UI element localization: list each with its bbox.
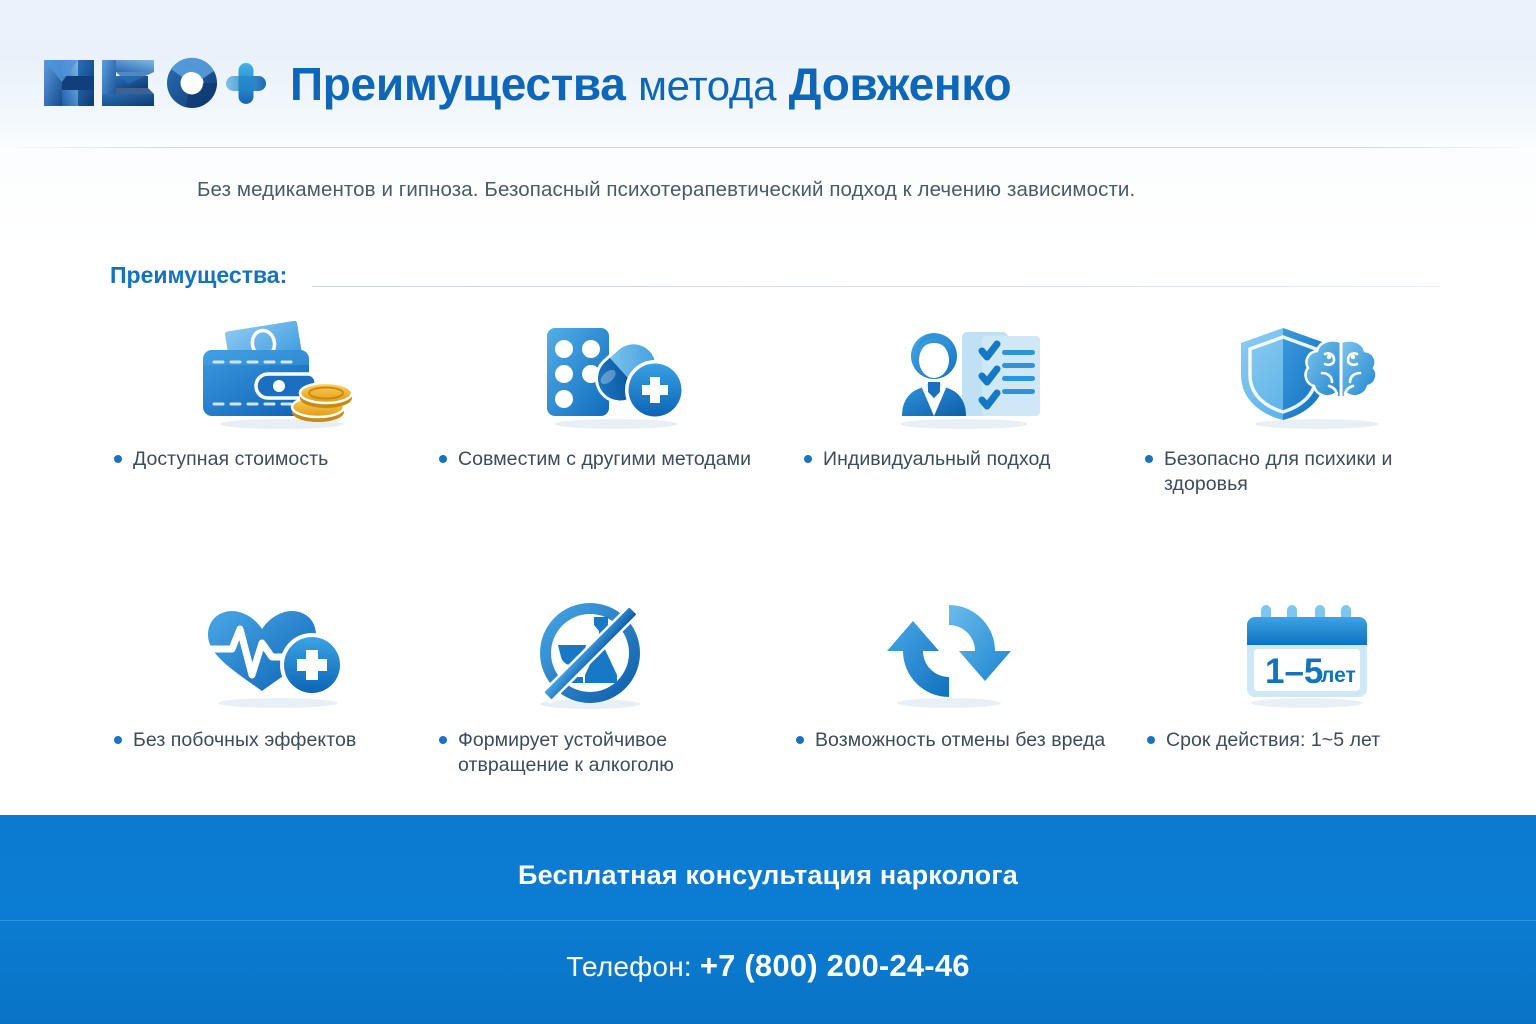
benefits-section-header: Преимущества:: [110, 262, 1440, 296]
benefit-text: Возможность отмены без вреда: [815, 728, 1105, 753]
benefit-item-compatible-methods[interactable]: Совместим с другими методами: [439, 312, 774, 497]
benefit-item-affordable-cost[interactable]: Доступная стоимость: [104, 312, 439, 497]
benefit-text: Совместим с другими методами: [458, 447, 751, 472]
bullet-dot: [439, 455, 447, 463]
doctor-checklist-icon: [774, 312, 1109, 430]
subtitle-band: Без медикаментов и гипноза. Безопасный п…: [0, 148, 1536, 240]
title-word-dovzhenko: Довженко: [789, 58, 1012, 110]
footer-phone-line[interactable]: Телефон: +7 (800) 200-24-46: [0, 948, 1536, 984]
benefit-label: Совместим с другими методами: [439, 447, 774, 472]
bullet-dot: [1145, 455, 1153, 463]
benefit-label: Формирует устойчивое отвращение к алкого…: [439, 728, 774, 778]
benefit-text: Без побочных эффектов: [133, 728, 356, 753]
neo-plus-logo: [36, 52, 268, 114]
wallet-coins-icon: [104, 312, 439, 430]
subtitle-text: Без медикаментов и гипноза. Безопасный п…: [197, 178, 1135, 202]
benefit-text: Доступная стоимость: [133, 447, 328, 472]
benefit-label: Доступная стоимость: [104, 447, 439, 472]
benefit-item-reversible[interactable]: Возможность отмены без вреда: [774, 593, 1109, 778]
phone-number[interactable]: +7 (800) 200-24-46: [700, 948, 970, 983]
benefit-text: Безопасно для психики и здоровья: [1164, 447, 1444, 497]
benefit-label: Безопасно для психики и здоровья: [1109, 447, 1444, 497]
no-alcohol-icon: [439, 593, 774, 711]
benefit-item-duration[interactable]: 1–5 лет Срок действия: 1~5 лет: [1109, 593, 1444, 778]
benefit-item-alcohol-aversion[interactable]: Формирует устойчивое отвращение к алкого…: [439, 593, 774, 778]
benefits-row-1: Доступная стоимость: [104, 312, 1444, 497]
benefit-item-no-side-effects[interactable]: Без побочных эффектов: [104, 593, 439, 778]
section-title: Преимущества:: [110, 262, 287, 289]
benefit-label: Возможность отмены без вреда: [774, 728, 1109, 753]
benefit-text: Формирует устойчивое отвращение к алкого…: [458, 728, 774, 778]
benefit-label: Срок действия: 1~5 лет: [1109, 728, 1444, 753]
benefits-row-2: Без побочных эффектов: [104, 593, 1444, 778]
section-divider: [312, 286, 1440, 287]
bullet-dot: [439, 736, 447, 744]
heart-pulse-plus-icon: [104, 593, 439, 711]
benefit-label: Без побочных эффектов: [104, 728, 439, 753]
bullet-dot: [804, 455, 812, 463]
benefit-item-individual-approach[interactable]: Индивидуальный подход: [774, 312, 1109, 497]
footer-cta-band: Бесплатная консультация нарколога Телефо…: [0, 815, 1536, 1024]
bullet-dot: [796, 736, 804, 744]
phone-label: Телефон:: [566, 951, 692, 982]
footer-divider: [0, 920, 1536, 921]
calendar-range-text: 1–5: [1265, 652, 1323, 691]
page-title: Преимущества метода Довженко: [290, 57, 1011, 111]
footer-cta-text: Бесплатная консультация нарколога: [0, 860, 1536, 891]
benefit-label: Индивидуальный подход: [774, 447, 1109, 472]
benefit-item-safe-for-mind[interactable]: Безопасно для психики и здоровья: [1109, 312, 1444, 497]
cycle-arrows-icon: [774, 593, 1109, 711]
benefit-text: Индивидуальный подход: [823, 447, 1050, 472]
pills-capsule-plus-icon: [439, 312, 774, 430]
bullet-dot: [1147, 736, 1155, 744]
title-word-method: метода: [638, 62, 776, 109]
benefit-text: Срок действия: 1~5 лет: [1166, 728, 1380, 753]
bullet-dot: [114, 736, 122, 744]
shield-brain-icon: [1109, 312, 1444, 430]
calendar-unit-text: лет: [1321, 664, 1356, 687]
benefits-grid: Доступная стоимость: [104, 312, 1444, 778]
calendar-years-icon: 1–5 лет: [1109, 593, 1444, 711]
title-word-advantages: Преимущества: [290, 58, 626, 110]
infographic-page: Преимущества метода Довженко Без медикам…: [0, 0, 1536, 1024]
bullet-dot: [114, 455, 122, 463]
header-band: Преимущества метода Довженко: [0, 0, 1536, 148]
